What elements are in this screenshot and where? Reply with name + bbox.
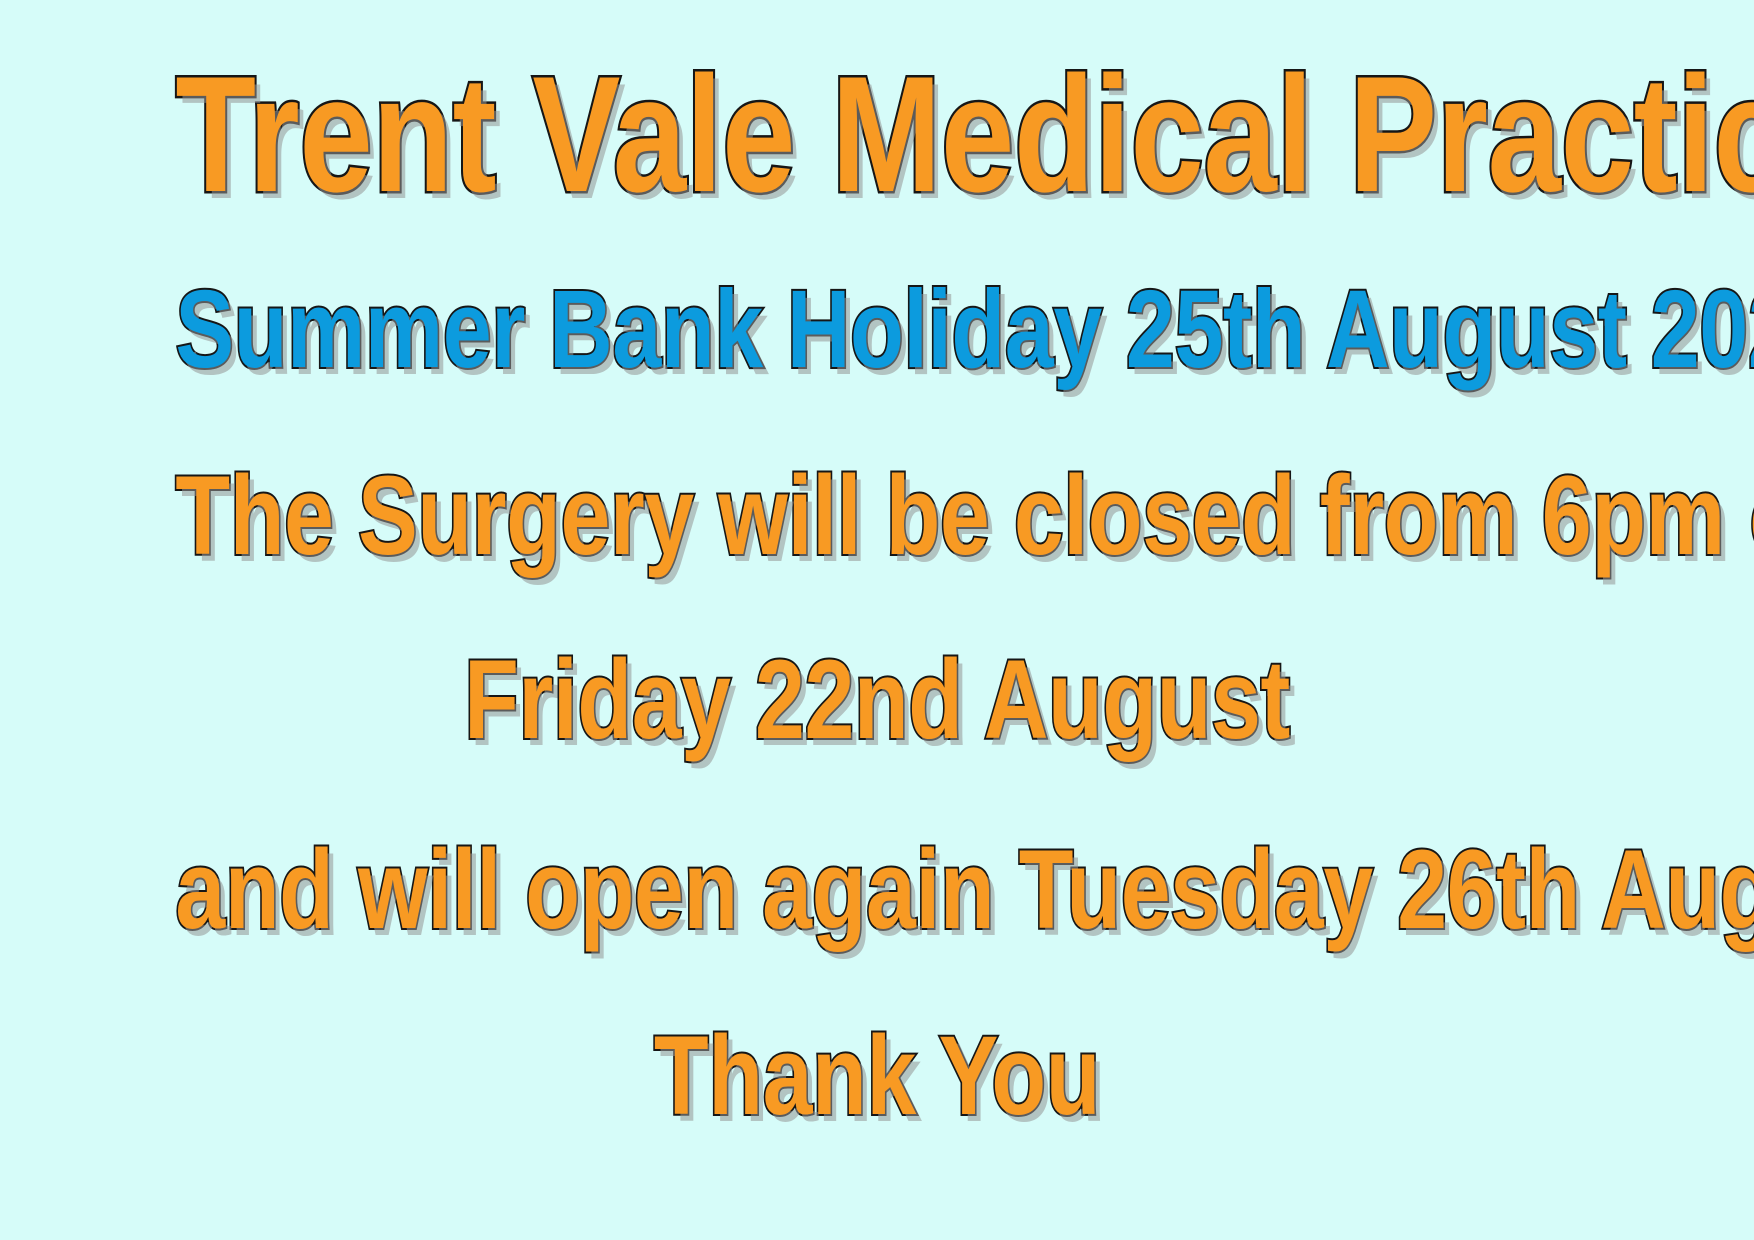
closure-date-line: Friday 22nd August: [175, 644, 1578, 756]
closure-statement-line: The Surgery will be closed from 6pm on: [175, 460, 1578, 572]
closure-notice-poster: Trent Vale Medical Practice Summer Bank …: [0, 0, 1754, 1240]
holiday-occasion-heading: Summer Bank Holiday 25th August 2025: [175, 275, 1578, 385]
practice-name-heading: Trent Vale Medical Practice: [175, 52, 1578, 217]
closing-remark-line: Thank You: [175, 1020, 1578, 1132]
reopen-statement-line: and will open again Tuesday 26th August: [175, 834, 1578, 946]
